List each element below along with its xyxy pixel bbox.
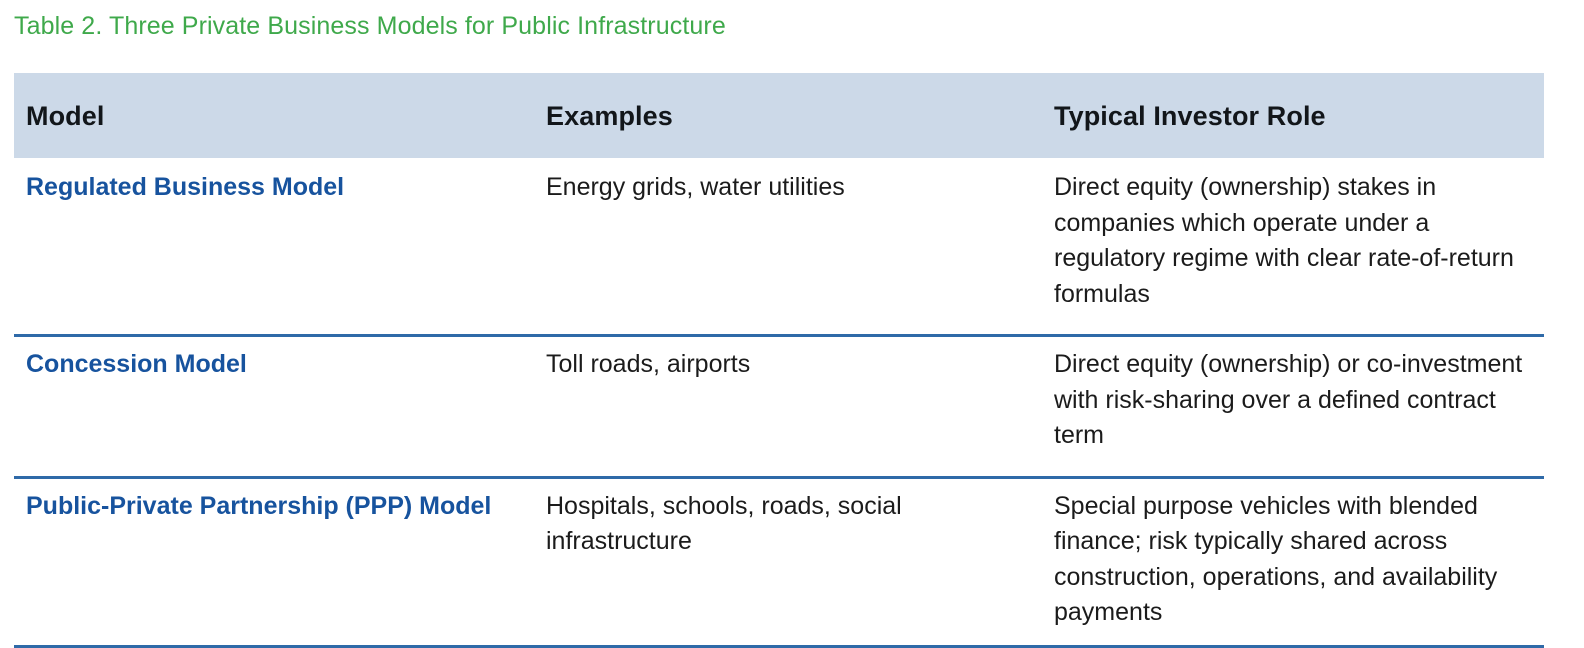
- cell-model: Concession Model: [14, 336, 534, 478]
- cell-examples: Energy grids, water utilities: [534, 158, 1042, 336]
- cell-investor-role: Direct equity (ownership) stakes in comp…: [1042, 158, 1544, 336]
- cell-model: Public-Private Partnership (PPP) Model: [14, 477, 534, 646]
- table-header: Model Examples Typical Investor Role: [14, 73, 1544, 158]
- table-row: Concession Model Toll roads, airports Di…: [14, 336, 1544, 478]
- cell-examples: Toll roads, airports: [534, 336, 1042, 478]
- table-container: Model Examples Typical Investor Role Reg…: [14, 73, 1544, 648]
- table-caption: Table 2. Three Private Business Models f…: [14, 10, 726, 42]
- cell-investor-role: Special purpose vehicles with blended fi…: [1042, 477, 1544, 646]
- cell-model: Regulated Business Model: [14, 158, 534, 336]
- table-row: Regulated Business Model Energy grids, w…: [14, 158, 1544, 336]
- cell-examples: Hospitals, schools, roads, social infras…: [534, 477, 1042, 646]
- business-models-table: Model Examples Typical Investor Role Reg…: [14, 73, 1544, 648]
- table-body: Regulated Business Model Energy grids, w…: [14, 158, 1544, 646]
- column-header-examples: Examples: [534, 73, 1042, 158]
- table-row: Public-Private Partnership (PPP) Model H…: [14, 477, 1544, 646]
- cell-investor-role: Direct equity (ownership) or co-investme…: [1042, 336, 1544, 478]
- column-header-typical-investor-role: Typical Investor Role: [1042, 73, 1544, 158]
- table-header-row: Model Examples Typical Investor Role: [14, 73, 1544, 158]
- column-header-model: Model: [14, 73, 534, 158]
- document-page: Table 2. Three Private Business Models f…: [0, 0, 1584, 628]
